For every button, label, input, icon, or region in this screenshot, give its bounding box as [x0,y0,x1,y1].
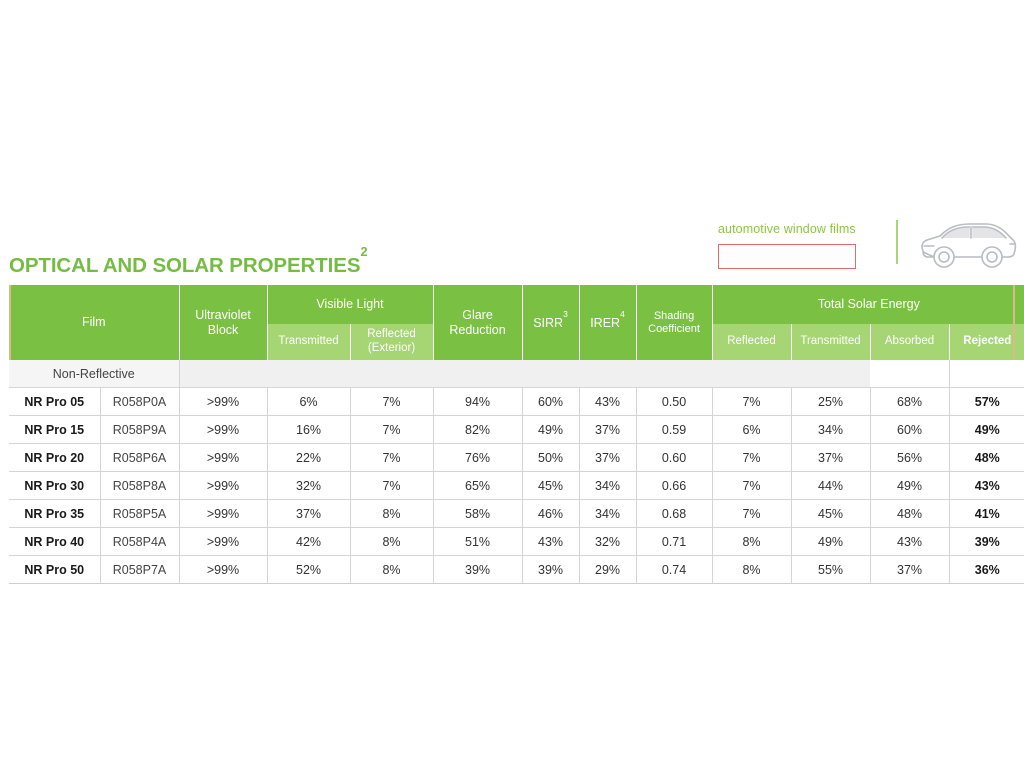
cell-irer: 32% [579,528,636,556]
cell-shading-coefficient: 0.66 [636,472,712,500]
cell-vl-transmitted: 42% [267,528,350,556]
cell-shading-coefficient: 0.60 [636,444,712,472]
section-row-non-reflective: Non-Reflective [9,360,1024,388]
cell-irer: 34% [579,472,636,500]
table-row: NR Pro 30R058P8A>99%32%7%65%45%34%0.667%… [9,472,1024,500]
cell-tse-absorbed: 48% [870,500,949,528]
cell-name: NR Pro 20 [9,444,100,472]
cell-uv-block: >99% [179,472,267,500]
cell-uv-block: >99% [179,556,267,584]
cell-irer: 29% [579,556,636,584]
header-irer-footnote: 4 [620,309,625,319]
cell-sirr: 60% [522,388,579,416]
cell-uv-block: >99% [179,500,267,528]
brand-divider [896,220,898,264]
table-row: NR Pro 05R058P0A>99%6%7%94%60%43%0.507%2… [9,388,1024,416]
cell-name: NR Pro 35 [9,500,100,528]
table-body: Non-Reflective NR Pro 05R058P0A>99%6%7%9… [9,360,1024,584]
brand-block: automotive window films [718,218,1018,280]
cell-sirr: 46% [522,500,579,528]
cell-sirr: 43% [522,528,579,556]
cell-glare-reduction: 82% [433,416,522,444]
table-row: NR Pro 40R058P4A>99%42%8%51%43%32%0.718%… [9,528,1024,556]
brand-text-column: automotive window films [718,218,878,269]
cell-shading-coefficient: 0.74 [636,556,712,584]
brand-tagline: automotive window films [718,223,878,237]
header-film: Film [9,285,179,360]
cell-tse-transmitted: 44% [791,472,870,500]
cell-code: R058P4A [100,528,179,556]
section-band-white-rejected [949,360,1024,388]
cell-vl-transmitted: 37% [267,500,350,528]
cell-tse-transmitted: 34% [791,416,870,444]
page-title: OPTICAL AND SOLAR PROPERTIES2 [9,252,367,278]
cell-vl-reflected: 8% [350,528,433,556]
cell-vl-transmitted: 16% [267,416,350,444]
cell-tse-transmitted: 45% [791,500,870,528]
cell-tse-rejected: 36% [949,556,1024,584]
cell-tse-reflected: 8% [712,556,791,584]
cell-code: R058P6A [100,444,179,472]
cell-code: R058P0A [100,388,179,416]
cell-glare-reduction: 51% [433,528,522,556]
section-label-non-reflective: Non-Reflective [9,360,179,388]
cell-vl-reflected: 7% [350,416,433,444]
header-sirr-footnote: 3 [563,309,568,319]
cell-irer: 37% [579,416,636,444]
cell-uv-block: >99% [179,528,267,556]
cell-tse-reflected: 6% [712,416,791,444]
cell-code: R058P7A [100,556,179,584]
cell-uv-block: >99% [179,388,267,416]
cell-glare-reduction: 58% [433,500,522,528]
cell-tse-reflected: 8% [712,528,791,556]
header-tse-transmitted: Transmitted [791,324,870,360]
header-irer: IRER4 [579,285,636,360]
header-glare-reduction: Glare Reduction [433,285,522,360]
cell-code: R058P5A [100,500,179,528]
cell-glare-reduction: 65% [433,472,522,500]
brand-logo-placeholder [718,244,856,269]
cell-shading-coefficient: 0.68 [636,500,712,528]
header-sirr-text: SIRR [533,316,563,330]
header-visible-light-reflected: Reflected (Exterior) [350,324,433,360]
spec-sheet-page: automotive window films [0,0,1024,768]
table-row: NR Pro 50R058P7A>99%52%8%39%39%29%0.748%… [9,556,1024,584]
cell-vl-reflected: 7% [350,388,433,416]
cell-glare-reduction: 94% [433,388,522,416]
header-tse-absorbed: Absorbed [870,324,949,360]
cell-tse-rejected: 57% [949,388,1024,416]
header-visible-light-transmitted: Transmitted [267,324,350,360]
cell-vl-transmitted: 22% [267,444,350,472]
cell-tse-reflected: 7% [712,500,791,528]
header-shading-coefficient: Shading Coefficient [636,285,712,360]
cell-code: R058P8A [100,472,179,500]
table-row: NR Pro 15R058P9A>99%16%7%82%49%37%0.596%… [9,416,1024,444]
cell-name: NR Pro 50 [9,556,100,584]
header-row-top: Film Ultraviolet Block Visible Light Gla… [9,285,1024,324]
cell-tse-reflected: 7% [712,444,791,472]
cell-tse-rejected: 49% [949,416,1024,444]
cell-tse-transmitted: 49% [791,528,870,556]
header-sirr: SIRR3 [522,285,579,360]
cell-name: NR Pro 05 [9,388,100,416]
cell-tse-absorbed: 68% [870,388,949,416]
cell-sirr: 39% [522,556,579,584]
header-ultraviolet-block: Ultraviolet Block [179,285,267,360]
cell-shading-coefficient: 0.71 [636,528,712,556]
page-title-footnote-marker: 2 [360,244,367,259]
cell-glare-reduction: 76% [433,444,522,472]
cell-vl-reflected: 8% [350,500,433,528]
cell-glare-reduction: 39% [433,556,522,584]
table-head: Film Ultraviolet Block Visible Light Gla… [9,285,1024,360]
page-title-text: OPTICAL AND SOLAR PROPERTIES [9,254,360,277]
cell-tse-absorbed: 56% [870,444,949,472]
car-side-icon [918,218,1018,275]
cell-sirr: 49% [522,416,579,444]
cell-vl-reflected: 7% [350,472,433,500]
cell-tse-absorbed: 37% [870,556,949,584]
cell-irer: 43% [579,388,636,416]
cell-code: R058P9A [100,416,179,444]
cell-tse-reflected: 7% [712,388,791,416]
cell-shading-coefficient: 0.59 [636,416,712,444]
cell-irer: 37% [579,444,636,472]
header-accent-left [9,285,11,360]
table-row: NR Pro 35R058P5A>99%37%8%58%46%34%0.687%… [9,500,1024,528]
cell-tse-absorbed: 49% [870,472,949,500]
header-visible-light: Visible Light [267,285,433,324]
section-band-white-absorbed [870,360,949,388]
cell-name: NR Pro 40 [9,528,100,556]
cell-tse-absorbed: 43% [870,528,949,556]
cell-tse-rejected: 39% [949,528,1024,556]
cell-vl-reflected: 8% [350,556,433,584]
header-tse-reflected: Reflected [712,324,791,360]
cell-tse-transmitted: 55% [791,556,870,584]
cell-vl-transmitted: 52% [267,556,350,584]
cell-tse-absorbed: 60% [870,416,949,444]
cell-vl-transmitted: 32% [267,472,350,500]
cell-vl-reflected: 7% [350,444,433,472]
cell-sirr: 45% [522,472,579,500]
cell-tse-transmitted: 37% [791,444,870,472]
cell-tse-reflected: 7% [712,472,791,500]
cell-tse-rejected: 43% [949,472,1024,500]
cell-uv-block: >99% [179,416,267,444]
header-accent-right [1013,285,1015,360]
cell-name: NR Pro 30 [9,472,100,500]
cell-tse-rejected: 41% [949,500,1024,528]
cell-shading-coefficient: 0.50 [636,388,712,416]
cell-tse-transmitted: 25% [791,388,870,416]
table-row: NR Pro 20R058P6A>99%22%7%76%50%37%0.607%… [9,444,1024,472]
cell-sirr: 50% [522,444,579,472]
cell-vl-transmitted: 6% [267,388,350,416]
cell-uv-block: >99% [179,444,267,472]
header-irer-text: IRER [590,316,620,330]
optical-solar-properties-table: Film Ultraviolet Block Visible Light Gla… [9,285,1024,584]
header-total-solar-energy: Total Solar Energy [712,285,1024,324]
cell-tse-rejected: 48% [949,444,1024,472]
section-band-gray [179,360,870,388]
cell-irer: 34% [579,500,636,528]
cell-name: NR Pro 15 [9,416,100,444]
